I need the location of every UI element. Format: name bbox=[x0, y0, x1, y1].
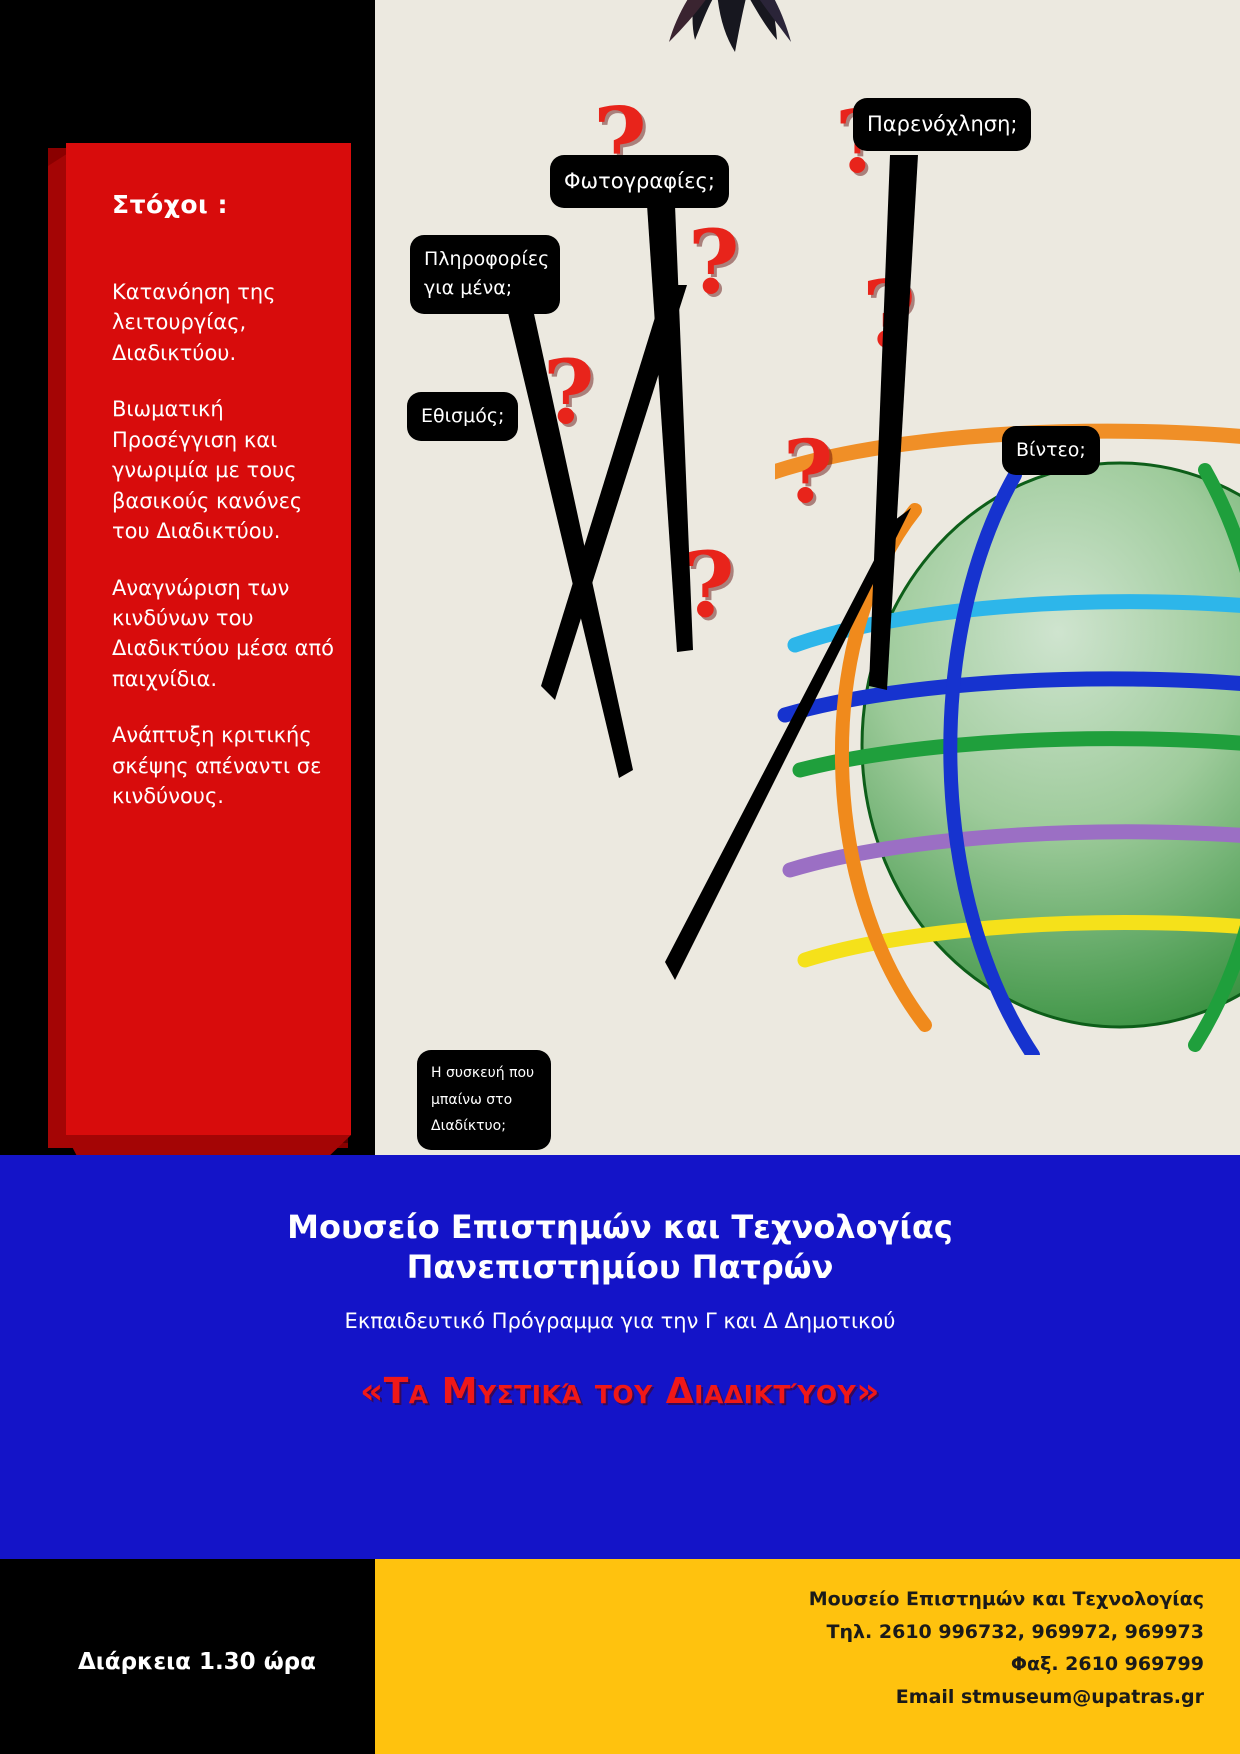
duration-box: Διάρκεια 1.30 ώρα bbox=[0, 1559, 375, 1754]
contact-line-1: Μουσείο Επιστημών και Τεχνολογίας bbox=[809, 1583, 1204, 1616]
footer-text-block: Μουσείο Επιστημών και Τεχνολογίας Πανεπι… bbox=[0, 1155, 1240, 1412]
contact-line-4: Email stmuseum@upatras.gr bbox=[809, 1681, 1204, 1714]
program-title: «Τα Μυστικά του Διαδικτύου» bbox=[0, 1333, 1240, 1412]
program-subtitle: Εκπαιδευτικό Πρόγραμμα για την Γ και Δ Δ… bbox=[0, 1287, 1240, 1333]
duration-label: Διάρκεια 1.30 ώρα bbox=[78, 1649, 316, 1675]
objective-item-4: Ανάπτυξη κριτικής σκέψης απέναντι σε κιν… bbox=[112, 720, 337, 811]
pointer-device bbox=[665, 508, 911, 980]
objective-item-1: Κατανόηση της λειτουργίας, Διαδικτύου. bbox=[112, 277, 337, 368]
objective-item-3: Αναγνώριση των κινδύνων του Διαδικτύου μ… bbox=[112, 573, 337, 695]
contact-line-3: Φαξ. 2610 969799 bbox=[809, 1648, 1204, 1681]
objective-item-2: Βιωματική Προσέγγιση και γνωριμία με του… bbox=[112, 394, 337, 546]
contact-details: Μουσείο Επιστημών και Τεχνολογίας Τηλ. 2… bbox=[809, 1583, 1204, 1714]
bubble-device[interactable]: Η συσκευή που μπαίνω στο Διαδίκτυο; bbox=[417, 1050, 551, 1150]
bubble-info-about-me[interactable]: Πληροφορίες για μένα; bbox=[410, 235, 560, 314]
pointer-photos bbox=[647, 205, 693, 652]
artwork-panel: ? ? ? ? ? ? ? Παρενόχληση; Φωτογραφίες; … bbox=[375, 0, 1240, 1155]
bubble-pointers bbox=[375, 0, 1240, 1155]
organisation-line-1: Μουσείο Επιστημών και Τεχνολογίας bbox=[0, 1155, 1240, 1247]
footer-blue-band: Μουσείο Επιστημών και Τεχνολογίας Πανεπι… bbox=[0, 1155, 1240, 1559]
bubble-addiction[interactable]: Εθισμός; bbox=[407, 392, 518, 441]
pointer-harassment bbox=[869, 155, 918, 690]
organisation-line-2: Πανεπιστημίου Πατρών bbox=[0, 1247, 1240, 1287]
bubble-video[interactable]: Βίντεο; bbox=[1002, 426, 1100, 475]
contact-box: Μουσείο Επιστημών και Τεχνολογίας Τηλ. 2… bbox=[375, 1559, 1240, 1754]
objectives-slab-bottom-edge bbox=[66, 1135, 351, 1157]
contact-line-2: Τηλ. 2610 996732, 969972, 969973 bbox=[809, 1616, 1204, 1649]
pointer-info bbox=[505, 300, 633, 778]
objectives-content: Στόχοι : Κατανόηση της λειτουργίας, Διαδ… bbox=[112, 190, 337, 1070]
poster-root: ? ? ? ? ? ? ? Παρενόχληση; Φωτογραφίες; … bbox=[0, 0, 1240, 1754]
bubble-harassment[interactable]: Παρενόχληση; bbox=[853, 98, 1031, 151]
bubble-photos[interactable]: Φωτογραφίες; bbox=[550, 155, 729, 208]
objectives-title: Στόχοι : bbox=[112, 190, 337, 219]
